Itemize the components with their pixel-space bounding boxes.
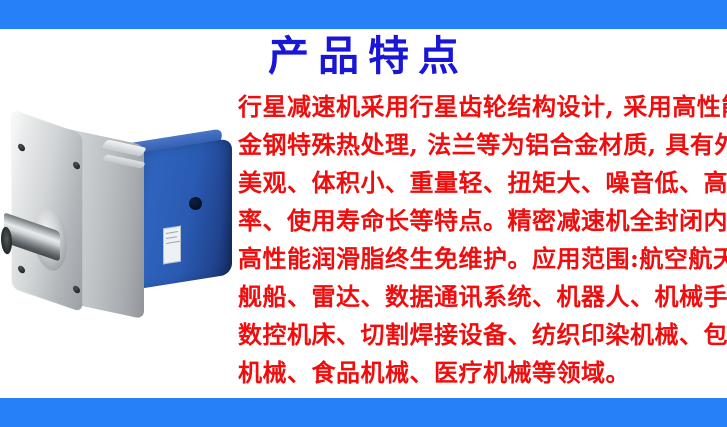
description-line: 美观、体积小、重量轻、扭矩大、噪音低、高效 [238, 164, 727, 202]
description-line: 行星减速机采用行星齿轮结构设计, 采用高性能合 [238, 88, 727, 126]
bottom-accent-bar [0, 398, 727, 427]
description-line: 率、使用寿命长等特点。精密减速机全封闭内加 [238, 202, 727, 240]
product-feature-banner: 产品特点 行星减速机采用行星齿轮结构设计, 采用高性能合 金钢特殊热处理, 法兰… [0, 0, 727, 427]
description-line: 金钢特殊热处理, 法兰等为铝合金材质, 具有外形 [238, 126, 727, 164]
description-line: 舰船、雷达、数据通讯系统、机器人、机械手臂、 [238, 278, 727, 316]
feature-description-block: 行星减速机采用行星齿轮结构设计, 采用高性能合 金钢特殊热处理, 法兰等为铝合金… [238, 84, 727, 392]
motor-port-hole-icon [189, 197, 202, 210]
top-accent-bar [0, 0, 727, 29]
motor-nameplate-label [163, 226, 181, 265]
description-line: 数控机床、切割焊接设备、纺织印染机械、包装 [238, 316, 727, 354]
page-title: 产品特点 [238, 28, 727, 84]
description-line: 高性能润滑脂终生免维护。应用范围:航空航天、 [238, 240, 727, 278]
text-column: 产品特点 行星减速机采用行星齿轮结构设计, 采用高性能合 金钢特殊热处理, 法兰… [238, 28, 727, 392]
description-line: 机械、食品机械、医疗机械等领域。 [238, 354, 727, 392]
product-photo-planetary-gearbox [0, 100, 240, 330]
